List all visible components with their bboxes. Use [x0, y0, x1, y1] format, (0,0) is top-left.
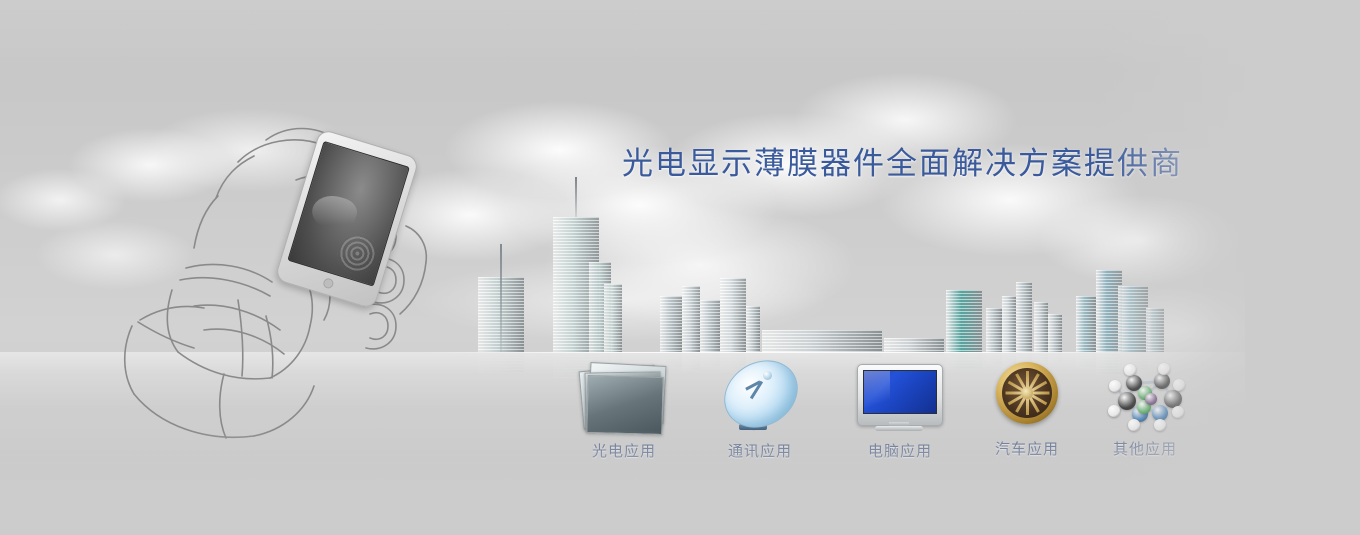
computer-monitor-icon — [845, 360, 955, 432]
thin-film-glass-panels-icon — [569, 360, 679, 432]
satellite-dish-icon — [705, 358, 815, 432]
promo-banner: 光电显示薄膜器件全面解决方案提供商 光电应用 通讯应用 — [0, 0, 1360, 535]
car-wheel-rim-icon — [972, 358, 1082, 430]
bottom-fade-overlay — [0, 430, 1360, 535]
